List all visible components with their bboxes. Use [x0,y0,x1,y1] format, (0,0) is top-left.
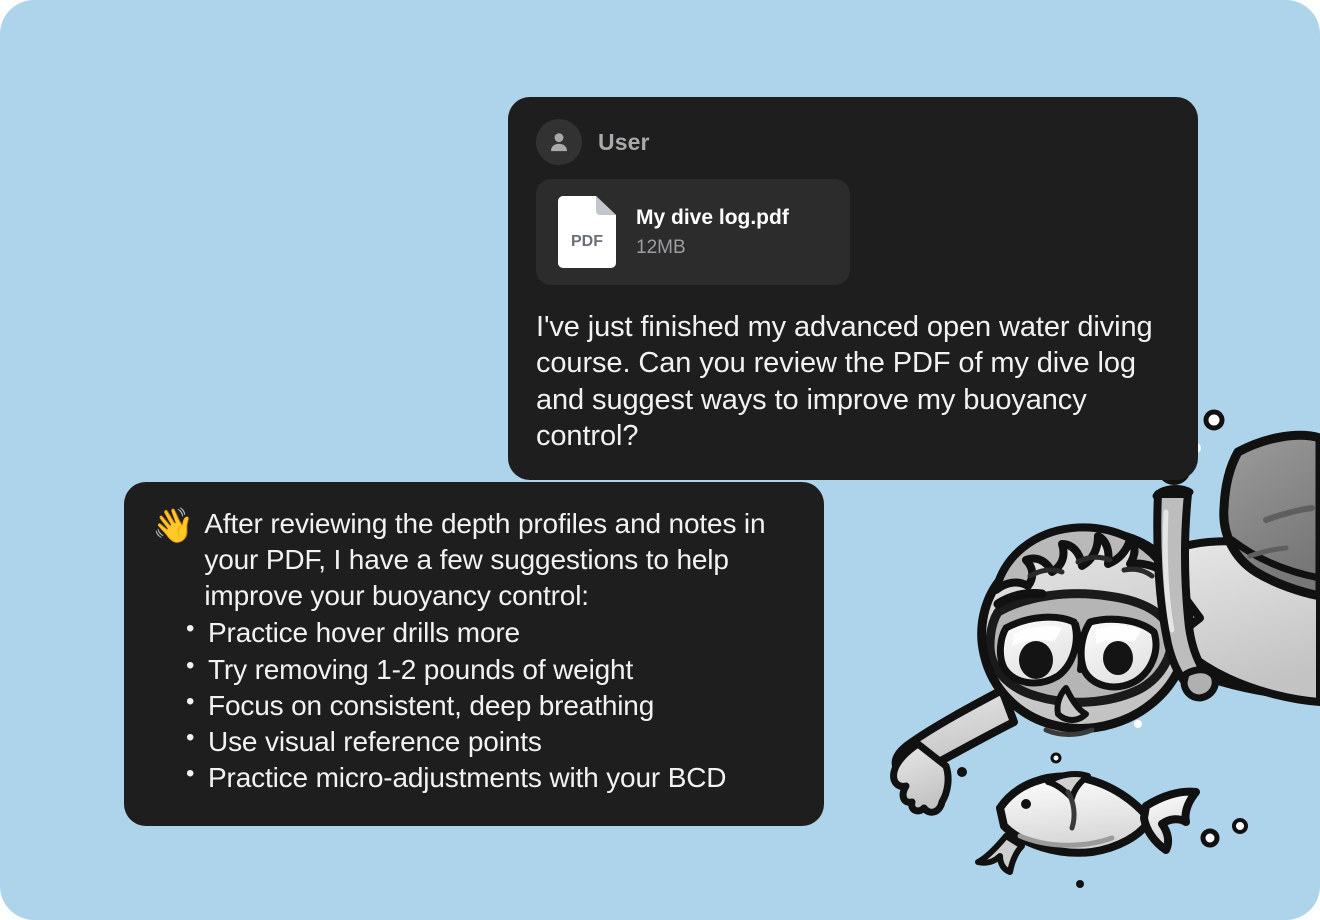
diver-nose [1057,688,1086,720]
user-message-bubble: User PDF My dive log.pdf 12MB I've just … [508,97,1198,480]
hair-stroke-2 [1078,557,1110,562]
fish-dorsal-fin [1048,774,1088,798]
suggestion-item: Try removing 1-2 pounds of weight [208,652,796,688]
right-lens-glare [1096,626,1142,645]
user-header: User [536,119,1170,165]
bubble-small-3 [1206,412,1222,428]
assistant-suggestion-list: Practice hover drills moreTry removing 1… [152,615,796,796]
mask-left-lens [1000,617,1076,683]
bubble-small-6 [1052,754,1060,762]
snorkel-mouthpiece [1184,670,1215,698]
fish-gill [1068,792,1074,828]
diver-left-arm [896,690,1014,774]
diver-head [982,532,1189,729]
pdf-icon-label: PDF [571,233,603,250]
hair-stroke-1 [1030,570,1062,576]
attachment-card[interactable]: PDF My dive log.pdf 12MB [536,179,850,285]
hair-stroke-3 [1124,569,1152,576]
suggestion-item: Focus on consistent, deep breathing [208,688,796,724]
fish-belly-line [1020,836,1112,845]
left-lens-glare [1012,626,1062,646]
wetsuit-cuff [1232,540,1320,578]
diver-torso [1150,541,1320,702]
diver-wetsuit-sleeve [1224,435,1320,596]
diver-group [894,435,1320,812]
person-icon [546,129,572,155]
diver-right-arm [1185,629,1320,700]
pdf-file-icon: PDF [558,196,616,268]
fish-tail [1144,792,1196,850]
diver-hair [996,527,1168,590]
assistant-message-bubble: 👋 After reviewing the depth profiles and… [124,482,824,826]
assistant-intro-text: After reviewing the depth profiles and n… [204,506,796,613]
suggestion-item: Practice hover drills more [208,615,796,651]
bubble-small-5 [957,767,967,777]
user-message-text: I've just finished my advanced open wate… [536,309,1170,454]
bubble-small-10 [1134,720,1142,728]
mask-strap [998,593,1042,604]
attachment-file-name: My dive log.pdf [636,206,789,230]
mask-right-lens [1081,619,1156,687]
fish-body [1000,776,1150,852]
wetsuit-texture-2 [1250,548,1286,556]
conversation-canvas: User PDF My dive log.pdf 12MB I've just … [0,0,1320,920]
bubble-small-9 [1076,880,1084,888]
mask-bridge [1076,624,1081,670]
avatar [536,119,582,165]
left-eye-pupil [1019,641,1053,679]
suggestion-item: Practice micro-adjustments with your BCD [208,760,796,796]
sender-label: User [598,129,650,156]
diver-mouth [1046,730,1092,735]
assistant-intro-row: 👋 After reviewing the depth profiles and… [152,506,796,613]
bubble-small-7 [1203,831,1217,845]
wetsuit-texture-1 [1266,508,1312,520]
fish-eye [1021,799,1031,809]
suggestion-item: Use visual reference points [208,724,796,760]
attachment-file-size: 12MB [636,237,789,259]
attachment-meta: My dive log.pdf 12MB [636,206,789,259]
right-eye-pupil [1103,641,1133,675]
diver-left-hand [894,744,948,812]
snorkel-tube [1157,494,1206,688]
fish-group [978,774,1196,872]
waving-hand-emoji: 👋 [152,508,194,544]
fish-lower-fin [978,836,1022,872]
snorkel-highlight [1165,512,1172,630]
dive-mask [990,594,1171,703]
snorkel-top [1156,489,1190,496]
bubble-small-8 [1234,820,1246,832]
diver-neck [1112,572,1200,660]
